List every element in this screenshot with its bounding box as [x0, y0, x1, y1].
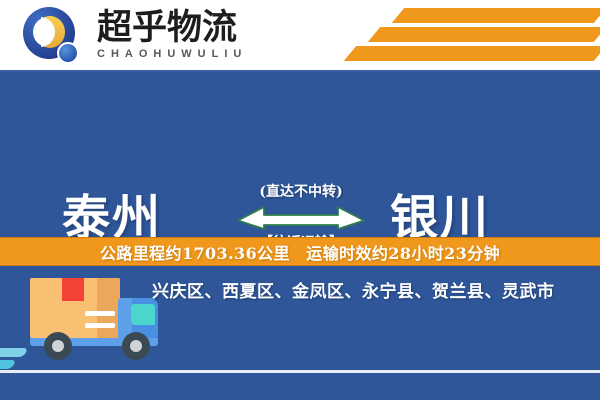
truck-box-line-2	[85, 323, 115, 328]
truck-box-line-1	[85, 311, 115, 316]
origin-city-label: 泰州	[62, 194, 162, 242]
circle-crescent-logo-icon	[23, 7, 81, 65]
banner-footer: 兴庆区、西夏区、金凤区、永宁县、贺兰县、灵武市	[0, 266, 600, 400]
distance-duration-text: 公路里程约1703.36公里 运输时效约28小时23分钟	[100, 240, 500, 264]
route-note-top: (直达不中转)	[236, 184, 366, 200]
stripe-top	[392, 8, 600, 23]
road-line-icon	[0, 370, 600, 373]
truck-cargo-box-shade	[97, 278, 120, 338]
swoosh-lower	[0, 360, 16, 369]
stripe-bottom	[344, 46, 600, 61]
brand-name-pinyin: CHAOHUWULIU	[97, 48, 267, 60]
logistics-route-banner: 超乎物流 CHAOHUWULIU 泰州 (直达不中转) 【往返运输】 银川 公路…	[0, 0, 600, 400]
route-panel: 泰州 (直达不中转) 【往返运输】 银川	[0, 72, 600, 237]
brand-name-cn: 超乎物流	[97, 9, 267, 47]
destination-districts-label: 兴庆区、西夏区、金凤区、永宁县、贺兰县、灵武市	[152, 281, 592, 303]
orange-chevron-stripes-icon	[340, 0, 600, 72]
swoosh-upper	[0, 348, 28, 357]
truck-rear-wheel	[44, 332, 72, 360]
truck-box-tape	[62, 278, 84, 301]
wheel-hub	[130, 340, 142, 352]
logo-accent-dot	[57, 42, 79, 64]
brand-wordmark: 超乎物流 CHAOHUWULIU	[97, 9, 267, 60]
banner-header: 超乎物流 CHAOHUWULIU	[0, 0, 600, 72]
bidirectional-arrow-icon	[236, 204, 366, 232]
wheel-hub	[52, 340, 64, 352]
truck-window	[131, 304, 155, 325]
truck-front-wheel	[122, 332, 150, 360]
destination-city-label: 银川	[390, 194, 490, 242]
stripe-middle	[368, 27, 600, 42]
distance-duration-bar: 公路里程约1703.36公里 运输时效约28小时23分钟	[0, 237, 600, 266]
